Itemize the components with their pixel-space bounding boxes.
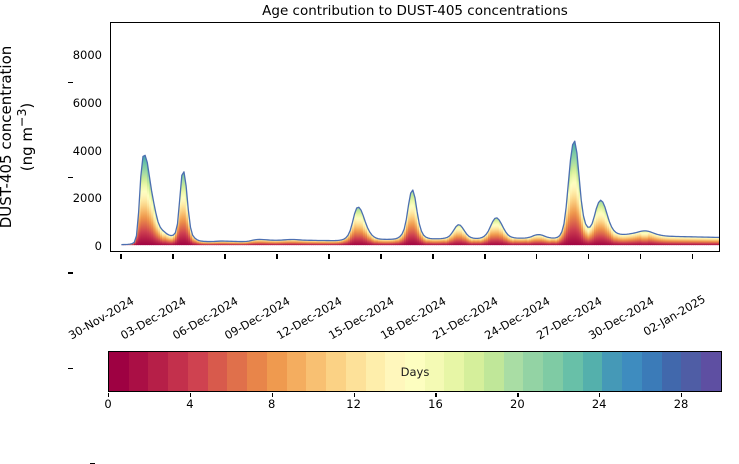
y-tick-label: 6000 (73, 96, 102, 110)
x-tick-label-group: 30-Nov-202403-Dec-202406-Dec-202409-Dec-… (110, 254, 720, 324)
colorbar-tick-mark (272, 393, 273, 397)
figure-root: Age contribution to DUST-405 concentrati… (0, 0, 739, 425)
colorbar-cell-9 (287, 352, 307, 391)
colorbar-cell-19 (484, 352, 504, 391)
x-tick-mark (224, 254, 225, 259)
colorbar-cell-12 (346, 352, 366, 391)
colorbar-cell-10 (306, 352, 326, 391)
colorbar-tick-mark (517, 393, 518, 397)
colorbar-tick-mark (190, 393, 191, 397)
x-tick-mark (640, 254, 641, 259)
age-fill-bands (121, 37, 719, 245)
y-tick-label: 4000 (73, 144, 102, 158)
colorbar-cell-6 (227, 352, 247, 391)
x-tick-mark (120, 254, 121, 259)
colorbar-cell-8 (267, 352, 287, 391)
colorbar-tick-mark (108, 393, 109, 397)
colorbar-tick-label: 8 (268, 397, 275, 411)
age-column (717, 237, 719, 245)
x-tick-mark (276, 254, 277, 259)
colorbar-tick-mark (681, 393, 682, 397)
y-tick-label: 0 (95, 239, 102, 253)
colorbar-cell-24 (583, 352, 603, 391)
colorbar-tick-label: 20 (510, 397, 525, 411)
colorbar-cell-25 (602, 352, 622, 391)
page-title: Age contribution to DUST-405 concentrati… (110, 3, 720, 19)
colorbar-cell-26 (622, 352, 642, 391)
colorbar-cell-7 (247, 352, 267, 391)
colorbar-cell-21 (523, 352, 543, 391)
colorbar-cell-0 (109, 352, 129, 391)
y-tick-mark (68, 368, 73, 369)
area-chart-svg (111, 23, 719, 251)
colorbar-cell-18 (464, 352, 484, 391)
x-tick-mark (380, 254, 381, 259)
y-tick-label: 2000 (73, 191, 102, 205)
x-tick-mark (588, 254, 589, 259)
y-axis-label-exponent: −3 (14, 109, 29, 127)
colorbar-tick-label: 24 (592, 397, 607, 411)
y-tick-label: 8000 (73, 48, 102, 62)
colorbar-cell-30 (701, 352, 721, 391)
colorbar-cell-14 (385, 352, 405, 391)
y-axis-label-line2: (ng m−3) (15, 22, 36, 252)
colorbar-cell-27 (642, 352, 662, 391)
x-tick-mark (432, 254, 433, 259)
colorbar-cell-28 (662, 352, 682, 391)
colorbar-cell-29 (681, 352, 701, 391)
colorbar-tick-mark (354, 393, 355, 397)
colorbar-cell-17 (444, 352, 464, 391)
colorbar-cell-13 (366, 352, 386, 391)
colorbar-tick-label: 28 (674, 397, 689, 411)
colorbar-cell-22 (543, 352, 563, 391)
colorbar-gradient[interactable] (108, 351, 722, 392)
colorbar-tick-mark (435, 393, 436, 397)
x-tick-mark (536, 254, 537, 259)
colorbar-cell-11 (326, 352, 346, 391)
colorbar-cell-23 (563, 352, 583, 391)
y-axis-label-line1: DUST-405 concentration (0, 46, 15, 229)
colorbar-cell-16 (425, 352, 445, 391)
colorbar-cell-20 (504, 352, 524, 391)
y-axis-label: DUST-405 concentration (ng m−3) (0, 22, 16, 252)
plot-area[interactable] (110, 22, 720, 252)
colorbar[interactable]: Days (108, 351, 722, 392)
colorbar-cell-15 (405, 352, 425, 391)
x-tick-mark (692, 254, 693, 259)
x-tick-mark (172, 254, 173, 259)
y-tick-label-group: 02000400060008000 (58, 22, 102, 252)
colorbar-tick-label: 12 (346, 397, 361, 411)
colorbar-tick-label-group: 0481216202428 (108, 393, 722, 417)
colorbar-tick-label: 0 (104, 397, 111, 411)
colorbar-cell-3 (168, 352, 188, 391)
colorbar-cell-5 (208, 352, 228, 391)
colorbar-cell-1 (129, 352, 149, 391)
colorbar-tick-mark (599, 393, 600, 397)
x-tick-mark (484, 254, 485, 259)
total-concentration-line (121, 37, 719, 244)
colorbar-tick-label: 4 (186, 397, 193, 411)
colorbar-tick-label: 16 (428, 397, 443, 411)
x-tick-mark (328, 254, 329, 259)
y-tick-mark (68, 82, 73, 83)
y-tick-mark (68, 177, 73, 178)
colorbar-cell-4 (188, 352, 208, 391)
y-tick-mark (68, 272, 73, 273)
colorbar-cell-2 (148, 352, 168, 391)
